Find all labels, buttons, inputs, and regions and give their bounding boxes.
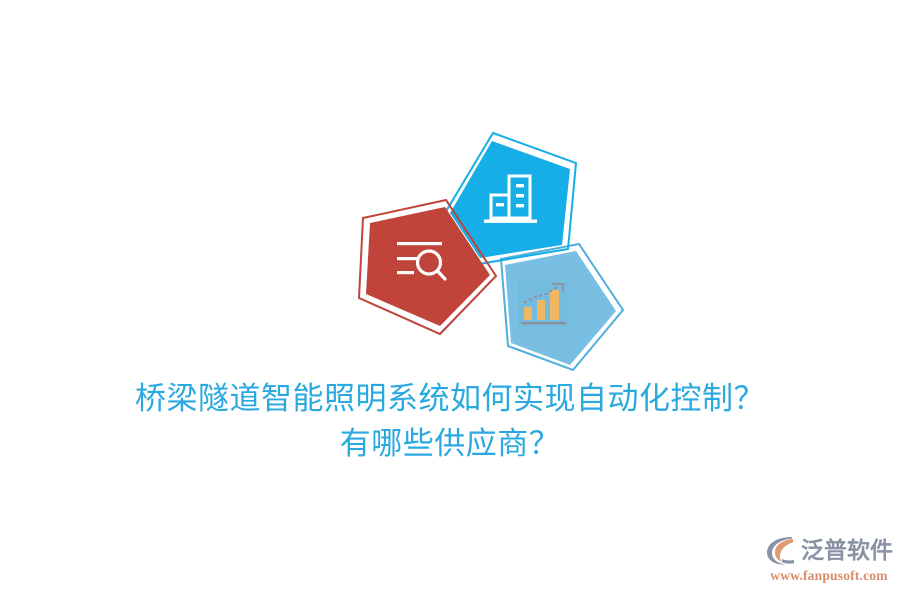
window-1 (516, 184, 524, 187)
brand-url: www.fanpusoft.com (766, 568, 892, 584)
chart-baseline (521, 322, 566, 324)
fanpu-c-mark-icon (766, 535, 798, 566)
doc-line-3 (397, 271, 414, 274)
window-3 (516, 204, 524, 207)
bar-1 (524, 307, 532, 320)
window-4 (496, 203, 504, 206)
pentagon-cluster-graphic (355, 125, 635, 375)
brand-name: 泛普软件 (801, 538, 893, 564)
bar-chart-growth-icon (518, 281, 568, 327)
bar-2 (537, 300, 545, 320)
bar-3 (550, 290, 559, 320)
page-canvas: 桥梁隧道智能照明系统如何实现自动化控制？ 有哪些供应商？ 泛普软件 www.fa… (0, 0, 900, 600)
pentagon-bar-chart (501, 244, 623, 370)
mark-lower-accent (782, 559, 794, 564)
brand-logo-row: 泛普软件 (766, 534, 892, 567)
doc-line-1 (397, 242, 442, 245)
building-ground-line (484, 220, 537, 223)
page-title: 桥梁隧道智能照明系统如何实现自动化控制？ 有哪些供应商？ (0, 376, 900, 466)
window-2 (516, 194, 524, 197)
doc-line-2 (397, 257, 419, 260)
page-title-line-1: 桥梁隧道智能照明系统如何实现自动化控制？ (0, 376, 900, 421)
page-title-line-2: 有哪些供应商？ (0, 421, 900, 466)
brand-logo[interactable]: 泛普软件 www.fanpusoft.com (766, 534, 892, 586)
